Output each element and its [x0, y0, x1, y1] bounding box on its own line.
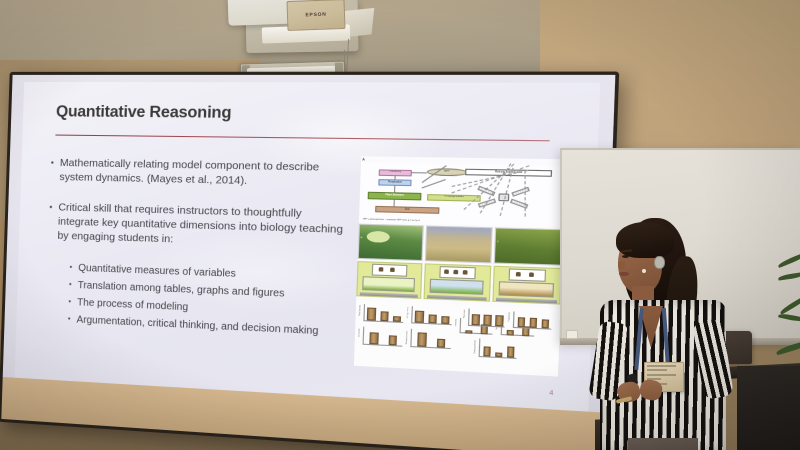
slide-title: Quantitative Reasoning [56, 103, 232, 123]
plant-leaf [778, 272, 800, 281]
x-tick-labels: LowMedHigh [479, 356, 516, 360]
earpiece [654, 256, 665, 269]
whiteboard-marker [566, 330, 578, 339]
node-respiration: Respiration [378, 179, 412, 186]
landscape-photo [425, 225, 493, 263]
nose [618, 261, 625, 269]
x-tick-label: Savanna [481, 334, 488, 337]
plant-leaf [778, 312, 800, 323]
x-tick-label: High [390, 345, 394, 348]
bullet-dot-icon: • [69, 261, 72, 275]
scale-bar [360, 292, 418, 297]
x-tick-label: Wet [507, 335, 510, 337]
bar-group [365, 304, 404, 322]
plant-leaf [777, 252, 800, 268]
bar-group [413, 306, 452, 324]
sub-bullet-list: • Quantitative measures of variables • T… [67, 261, 346, 341]
badge-text-line [647, 374, 676, 376]
photo-scene: EPSON Quantitative Reasoning • Mathemati… [0, 0, 800, 450]
y-axis-label: Herbivory [456, 319, 457, 326]
animal-icon [378, 268, 383, 272]
animal-icon [453, 270, 458, 274]
bullet-text: Critical skill that requires instructors… [57, 201, 348, 254]
connector [393, 200, 394, 206]
node-soil: Soil [375, 205, 439, 214]
animal-icon [444, 270, 449, 274]
bar [417, 333, 426, 347]
y-axis-label: Soil carbon [359, 328, 360, 337]
photo-caption [427, 239, 429, 242]
bar-group [481, 340, 517, 358]
bar [483, 346, 491, 356]
projection-screen: Quantitative Reasoning • Mathematically … [0, 72, 619, 450]
bar [495, 316, 503, 327]
epson-logo: EPSON [305, 12, 326, 19]
plant-leaf [779, 294, 800, 314]
x-tick-label: Low [416, 323, 419, 326]
bullet-dot-icon: • [68, 296, 71, 310]
x-tick-label: Low [371, 344, 374, 347]
badge-text-line [647, 369, 667, 371]
mini-bar-chart: Biomass turnoverGrassShrub [410, 329, 451, 351]
mini-bar-chart: Soil carbonLowHigh [362, 327, 402, 348]
bar [370, 332, 379, 344]
herbivore-inset [439, 266, 475, 279]
ecosystem-panel [356, 261, 422, 299]
mini-bar-chart: Plant biomassLowMedHigh [363, 304, 403, 325]
bar-group [412, 330, 451, 348]
x-tick-label: High [543, 329, 547, 332]
projector-brand-panel: EPSON [286, 0, 345, 31]
x-tick-labels: LowMedHigh [411, 323, 452, 327]
animal-icon [516, 272, 521, 277]
x-tick-labels: LowHigh [362, 344, 402, 348]
badge-text-line [647, 365, 676, 367]
photo-caption: B [359, 237, 363, 240]
trousers [628, 438, 698, 450]
x-tick-labels: GrasslandSavanna [459, 333, 492, 337]
bullet-dot-icon: • [48, 201, 53, 245]
node-herbivory: Herbivory [378, 169, 412, 176]
x-tick-labels: LowMedHigh [363, 320, 403, 324]
bullet-text: Mathematically relating model component … [59, 157, 350, 192]
x-tick-label: Med [381, 321, 384, 324]
sub-bullet-text: The process of modeling [77, 296, 188, 315]
bar-group [364, 328, 403, 346]
plant-leaf [775, 340, 800, 355]
x-tick-label: Low [368, 321, 371, 324]
mini-bar-chart: Grazing intensityLowMedHigh [479, 339, 517, 361]
landscape-photo: B [358, 223, 424, 261]
scale-bar [496, 297, 557, 302]
animal-icon [528, 273, 533, 278]
x-tick-label: High [497, 326, 501, 329]
node-npp: NPP [426, 168, 467, 177]
x-tick-label: Dry [524, 336, 527, 338]
animal-icon [463, 271, 468, 275]
satellite-panel [511, 187, 530, 198]
landscape-photo: C [494, 227, 563, 266]
node-plant-biomass: Plant Biomass [368, 192, 422, 201]
mini-bar-chart: NPP (g C m-2)LowMedHigh [411, 306, 452, 327]
bullet-dot-icon: • [50, 157, 54, 186]
desk [737, 366, 800, 450]
x-tick-label: Grassland [464, 333, 472, 336]
lips [619, 272, 629, 276]
bar [472, 314, 480, 326]
earring [642, 269, 646, 273]
hair-front [616, 222, 674, 258]
vegetation-inset [430, 279, 484, 295]
slide-page-number: 4 [549, 390, 553, 397]
bar [367, 308, 376, 321]
x-tick-label: Low [472, 325, 475, 328]
ecosystem-panel [423, 263, 491, 302]
vegetation-inset [363, 276, 416, 292]
vegetation-inset [499, 281, 555, 298]
figure-landscape-photos: B C [358, 223, 563, 265]
x-tick-label: Med [484, 326, 488, 329]
bar-group [470, 309, 506, 327]
x-tick-label: Med [530, 328, 534, 331]
x-tick-label: Low [483, 356, 486, 359]
bullet-item: • Mathematically relating model componen… [50, 157, 350, 192]
sub-bullet-text: Quantitative measures of variables [78, 261, 236, 281]
x-tick-label: Low [518, 328, 521, 331]
y-axis-label: Plant biomass [360, 305, 362, 316]
presenter [588, 212, 736, 450]
figure-panel-label: A [362, 158, 365, 162]
x-tick-label: High [443, 324, 447, 327]
bar [389, 335, 398, 345]
x-tick-label: Grass [418, 347, 423, 350]
x-tick-label: Shrub [438, 347, 443, 350]
title-underline [55, 134, 549, 141]
slide-body: • Mathematically relating model componen… [45, 157, 350, 345]
screen-surface: Quantitative Reasoning • Mathematically … [1, 75, 615, 450]
animal-icon [390, 268, 395, 272]
mini-bar-chart: ProductivityLowMedHigh [513, 311, 551, 331]
connector [422, 179, 446, 188]
bar [380, 311, 389, 321]
x-tick-label: High [508, 358, 512, 361]
mini-bar-chart: Plant coverLowMedHigh [468, 308, 506, 329]
x-tick-labels: WetDry [500, 335, 533, 339]
bullet-dot-icon: • [67, 313, 70, 327]
bar [506, 346, 514, 358]
x-tick-label: Med [496, 357, 500, 360]
y-axis-label: Grazing intensity [475, 340, 477, 353]
y-axis-label: NPP (g C m-2) [408, 307, 410, 318]
bar [437, 338, 446, 347]
ecosystem-panel [492, 266, 561, 305]
slide-figure: A Herbivory Respiration Plant Biomass So… [354, 157, 566, 376]
bar [529, 317, 537, 328]
y-axis-label: Plant cover [464, 309, 465, 318]
scale-bar [427, 295, 486, 300]
figure-ecosystem-panels [356, 261, 561, 305]
herbivore-inset [372, 264, 407, 277]
herbivore-inset [509, 269, 546, 282]
figure-legend: NPP = photosynthesis − respiration NPP u… [363, 218, 420, 222]
y-axis-label: Biomass turnover [407, 330, 409, 343]
eye [622, 255, 629, 258]
x-tick-label: High [394, 322, 398, 325]
x-tick-label: Med [429, 323, 432, 326]
figure-bar-chart-grid: Plant biomassLowMedHighNPP (g C m-2)LowM… [354, 301, 560, 376]
connector [412, 172, 426, 173]
screen-frame: Quantitative Reasoning • Mathematically … [0, 72, 619, 450]
bar [415, 311, 424, 323]
bullet-item: • Critical skill that requires instructo… [48, 201, 348, 254]
bullet-dot-icon: • [69, 278, 72, 292]
figure-conceptual-diagram: Herbivory Respiration Plant Biomass Soil… [359, 163, 565, 227]
bar [483, 314, 491, 326]
photo-caption: C [496, 241, 500, 244]
projected-slide: Quantitative Reasoning • Mathematically … [15, 82, 601, 413]
